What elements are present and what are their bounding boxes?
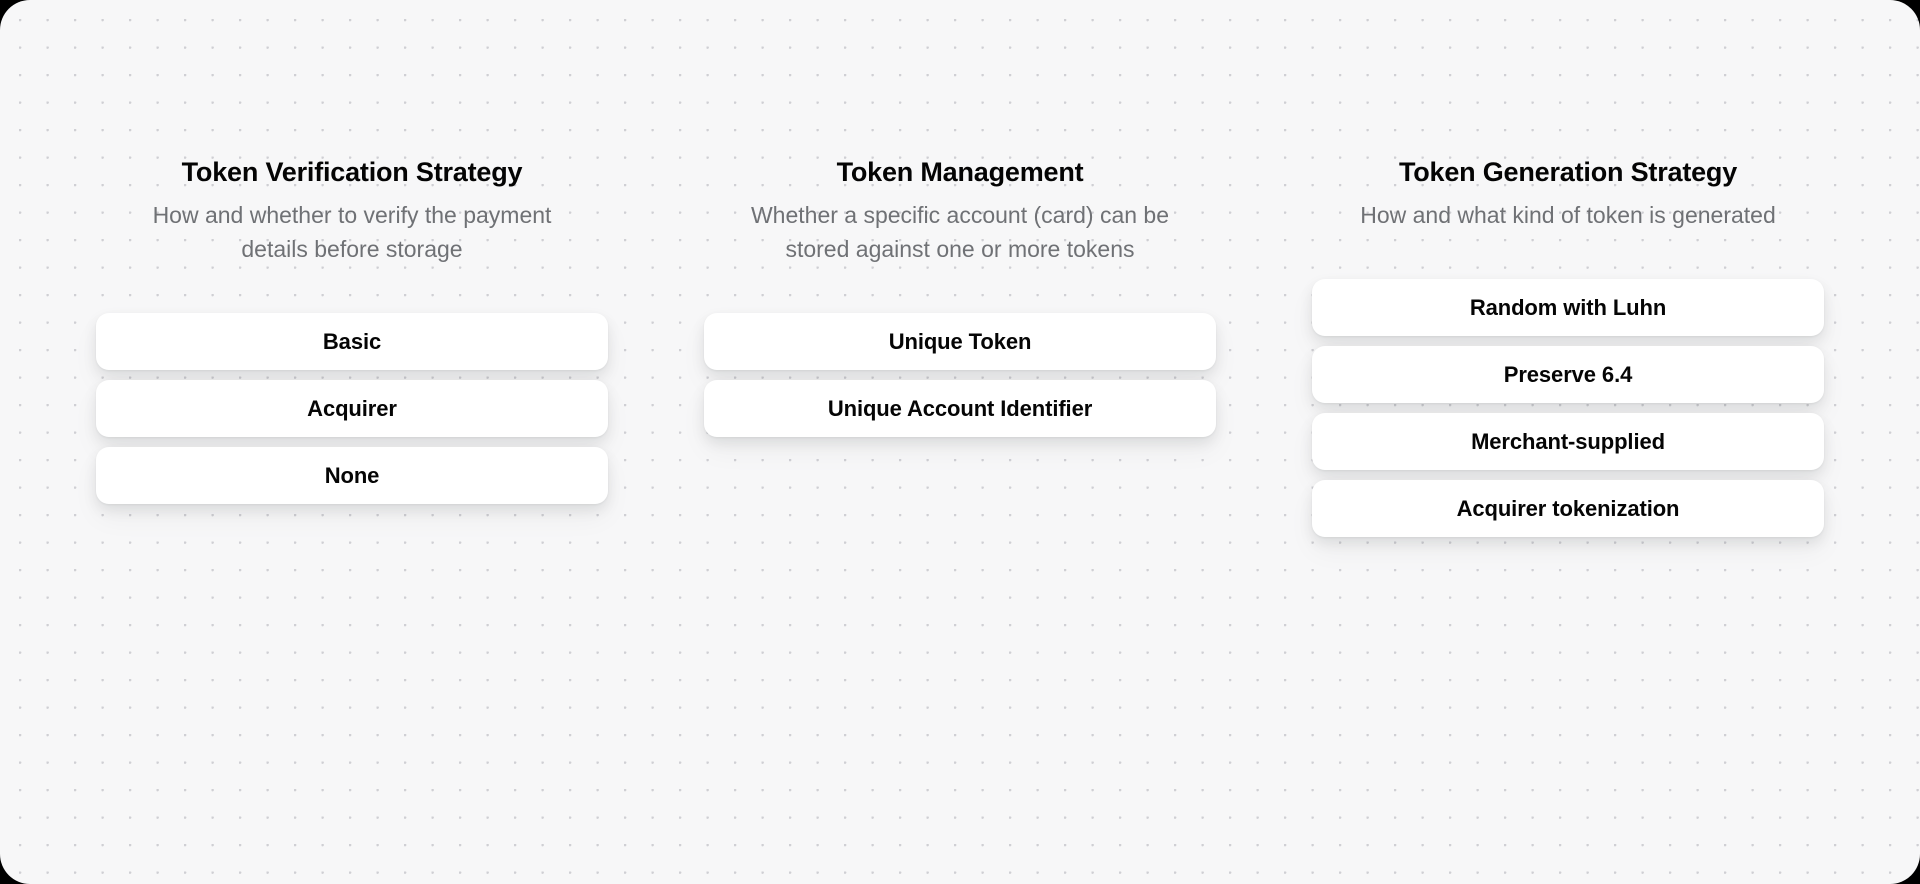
column-title: Token Management bbox=[712, 155, 1208, 189]
tokenization-options-board: Token Verification Strategy How and whet… bbox=[0, 0, 1920, 884]
option-label: Random with Luhn bbox=[1470, 295, 1666, 321]
option-pill[interactable]: Preserve 6.4 bbox=[1312, 346, 1824, 403]
column-header: Token Verification Strategy How and whet… bbox=[96, 155, 608, 266]
column-title: Token Verification Strategy bbox=[104, 155, 600, 189]
column-header: Token Management Whether a specific acco… bbox=[704, 155, 1216, 266]
options-list: Unique Token Unique Account Identifier bbox=[704, 313, 1216, 437]
option-pill[interactable]: Acquirer tokenization bbox=[1312, 480, 1824, 537]
column-header: Token Generation Strategy How and what k… bbox=[1312, 155, 1824, 232]
option-pill[interactable]: None bbox=[96, 447, 608, 504]
option-pill[interactable]: Unique Token bbox=[704, 313, 1216, 370]
option-pill[interactable]: Unique Account Identifier bbox=[704, 380, 1216, 437]
column-token-verification-strategy: Token Verification Strategy How and whet… bbox=[96, 155, 608, 504]
option-pill[interactable]: Random with Luhn bbox=[1312, 279, 1824, 336]
app-frame: Token Verification Strategy How and whet… bbox=[0, 0, 1920, 884]
option-label: Acquirer bbox=[307, 396, 397, 422]
option-label: None bbox=[325, 463, 380, 489]
column-subtitle: Whether a specific account (card) can be… bbox=[730, 198, 1190, 266]
option-label: Merchant-supplied bbox=[1471, 429, 1665, 455]
column-token-generation-strategy: Token Generation Strategy How and what k… bbox=[1312, 155, 1824, 537]
option-label: Basic bbox=[323, 329, 381, 355]
column-title: Token Generation Strategy bbox=[1320, 155, 1816, 189]
options-list: Basic Acquirer None bbox=[96, 313, 608, 504]
options-list: Random with Luhn Preserve 6.4 Merchant-s… bbox=[1312, 279, 1824, 537]
column-subtitle: How and what kind of token is generated bbox=[1338, 198, 1798, 232]
option-pill[interactable]: Basic bbox=[96, 313, 608, 370]
option-pill[interactable]: Acquirer bbox=[96, 380, 608, 437]
option-label: Unique Account Identifier bbox=[828, 396, 1092, 422]
option-label: Unique Token bbox=[889, 329, 1032, 355]
column-subtitle: How and whether to verify the payment de… bbox=[122, 198, 582, 266]
option-label: Preserve 6.4 bbox=[1504, 362, 1632, 388]
option-pill[interactable]: Merchant-supplied bbox=[1312, 413, 1824, 470]
option-label: Acquirer tokenization bbox=[1457, 496, 1680, 522]
column-token-management: Token Management Whether a specific acco… bbox=[704, 155, 1216, 437]
